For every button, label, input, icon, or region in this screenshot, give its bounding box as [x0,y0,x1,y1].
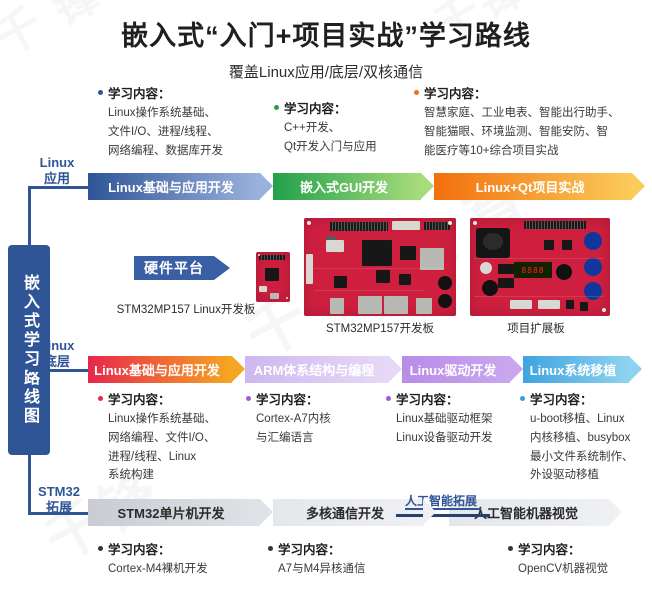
learn-content-body: Linux操作系统基础、 网络编程、文件I/O、 进程/线程、Linux 系统构… [98,410,240,485]
board-image-expansion: 8888 [470,218,610,316]
learn-content-heading: 学习内容： [386,390,518,410]
learn-content-body: Linux操作系统基础、 文件I/O、进程/线程、 网络编程、数据库开发 [98,104,278,160]
learn-content-heading: 学习内容： [98,540,248,560]
ai-extension-label: 人工智能拓展 [405,492,477,509]
learn-content-body: OpenCV机器视觉 [508,560,652,579]
learn-content-linux-app-2: 学习内容： C++开发、 Qt开发入门与应用 [274,99,404,157]
learn-content-heading: 学习内容： [246,390,376,410]
segment-linux-app-1[interactable]: Linux基础与应用开发 [88,173,260,200]
ai-extension-underline [405,508,481,510]
segment-linux-app-3[interactable]: Linux+Qt项目实战 [434,173,632,200]
learn-content-linux-app-1: 学习内容： Linux操作系统基础、 文件I/O、进程/线程、 网络编程、数据库… [98,84,278,160]
learn-content-stm32-ext-1: 学习内容： Cortex-M4裸机开发 [98,540,248,579]
learn-content-linux-base-3: 学习内容： Linux基础驱动框架 Linux设备驱动开发 [386,390,518,448]
learn-content-heading: 学习内容： [414,84,652,104]
segment-stm32-ext-1[interactable]: STM32单片机开发 [88,499,260,526]
branch-label-linux-base: Linux 底层 [28,338,86,369]
page-header: 嵌入式“入门+项目实战”学习路线 覆盖Linux应用/底层/双核通信 [0,0,652,82]
branch-connector-linux-app [28,186,88,189]
page-title: 嵌入式“入门+项目实战”学习路线 [0,14,652,53]
caption-stm32mp157-linux-board: STM32MP157 Linux开发板 [106,301,266,317]
learn-content-linux-base-4: 学习内容： u-boot移植、Linux 内核移植、busybox 最小文件系统… [520,390,652,485]
bullet-dot-icon [386,396,391,401]
led-display: 8888 [514,262,552,278]
learn-content-linux-base-1: 学习内容： Linux操作系统基础、 网络编程、文件I/O、 进程/线程、Lin… [98,390,240,485]
bullet-dot-icon [520,396,525,401]
segment-linux-app-2[interactable]: 嵌入式GUI开发 [273,173,421,200]
arrowbar-linux-base: Linux基础与应用开发 ARM体系结构与编程 Linux驱动开发 Linux系… [88,356,629,383]
bullet-dot-icon [98,546,103,551]
bullet-dot-icon [98,90,103,95]
segment-stm32-ext-2[interactable]: 多核通信开发 [273,499,423,526]
learn-content-body: Linux基础驱动框架 Linux设备驱动开发 [386,410,518,447]
caption-stm32mp157-board: STM32MP157开发板 [300,320,460,336]
bullet-dot-icon [508,546,513,551]
learn-content-linux-app-3: 学习内容： 智慧家庭、工业电表、智能出行助手、 智能猫眼、环境监测、智能安防、智… [414,84,652,160]
learn-content-body: A7与M4异核通信 [268,560,418,579]
roadmap-canvas: 千 锋 千锋 千 锋 教 育 千锋 嵌入式“入门+项目实战”学习路线 覆盖Lin… [0,0,652,599]
learn-content-heading: 学习内容： [520,390,652,410]
learn-content-heading: 学习内容： [274,99,404,119]
ai-extension-rule [396,514,490,517]
segment-linux-base-2[interactable]: ARM体系结构与编程 [245,356,389,383]
learn-content-body: 智慧家庭、工业电表、智能出行助手、 智能猫眼、环境监测、智能安防、智 能医疗等1… [414,104,652,160]
learn-content-linux-base-2: 学习内容： Cortex-A7内核 与汇编语言 [246,390,376,448]
branch-connector-linux-base [28,369,88,372]
learn-content-heading: 学习内容： [98,390,240,410]
arrowbar-stm32-ext: STM32单片机开发 多核通信开发 人工智能机器视觉 [88,499,609,526]
hardware-platform-arrow: 硬件平台 [134,256,230,280]
page-subtitle: 覆盖Linux应用/底层/双核通信 [0,61,652,82]
branch-label-linux-app: Linux 应用 [28,155,86,186]
learn-content-body: u-boot移植、Linux 内核移植、busybox 最小文件系统制作、 外设… [520,410,652,485]
segment-linux-base-4[interactable]: Linux系统移植 [523,356,629,383]
arrow-tip-icon [214,256,230,280]
board-image-stm32mp157 [304,218,456,316]
bullet-dot-icon [268,546,273,551]
board-image-stm32mp157-small [256,252,290,302]
bullet-dot-icon [414,90,419,95]
segment-linux-base-3[interactable]: Linux驱动开发 [402,356,510,383]
bullet-dot-icon [98,396,103,401]
learn-content-heading: 学习内容： [268,540,418,560]
learn-content-body: Cortex-A7内核 与汇编语言 [246,410,376,447]
branch-label-stm32-ext: STM32 拓展 [28,484,90,515]
bullet-dot-icon [246,396,251,401]
learn-content-stm32-ext-3: 学习内容： OpenCV机器视觉 [508,540,652,579]
learn-content-heading: 学习内容： [508,540,652,560]
branch-connector-stm32-ext [28,512,88,515]
caption-expansion-board: 项目扩展板 [466,320,606,336]
learn-content-body: Cortex-M4裸机开发 [98,560,248,579]
bullet-dot-icon [274,105,279,110]
learn-content-stm32-ext-2: 学习内容： A7与M4异核通信 [268,540,418,579]
arrowbar-linux-app: Linux基础与应用开发 嵌入式GUI开发 Linux+Qt项目实战 [88,173,632,200]
learn-content-body: C++开发、 Qt开发入门与应用 [274,119,404,156]
hardware-platform-label: 硬件平台 [134,256,214,280]
learn-content-heading: 学习内容： [98,84,278,104]
segment-linux-base-1[interactable]: Linux基础与应用开发 [88,356,232,383]
